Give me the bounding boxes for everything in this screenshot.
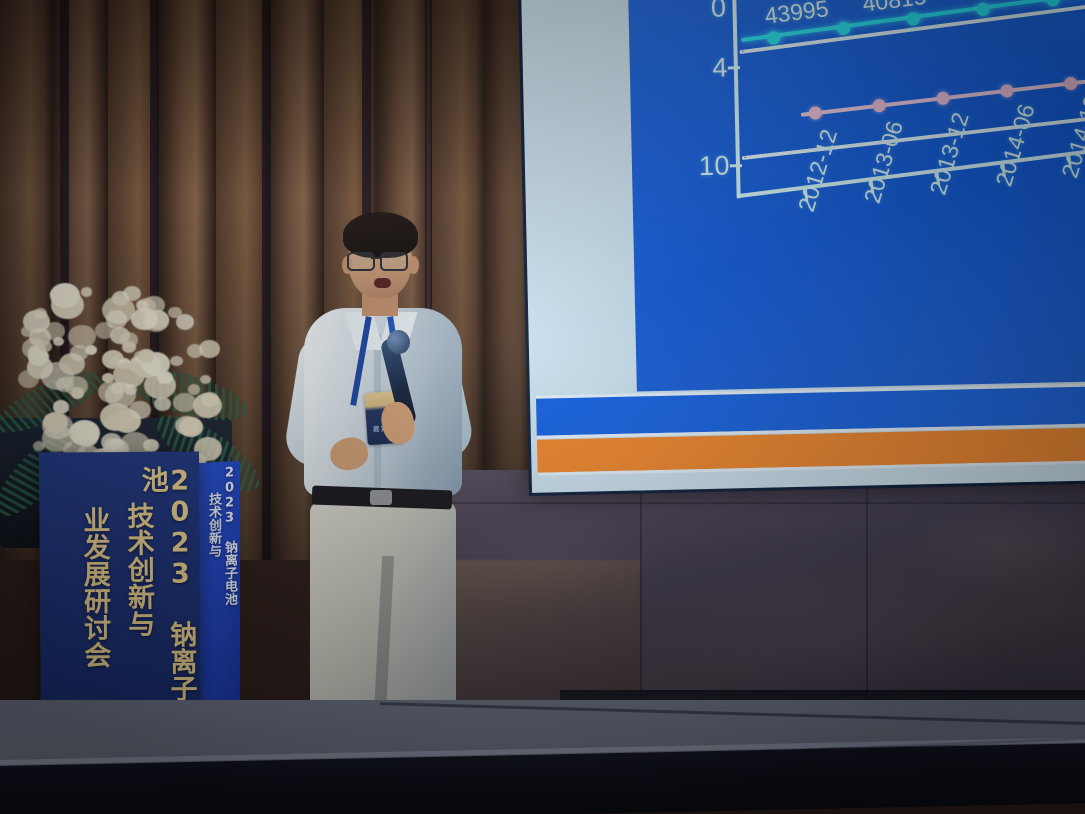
pink-data-point	[1000, 84, 1013, 97]
presenter-ear-right	[408, 256, 419, 274]
presenter: 嘉宾证	[286, 216, 486, 736]
y-tick-label: 10	[668, 150, 731, 182]
presentation-photo-scene: 0 4 10	[0, 0, 1085, 814]
flower-bloom	[53, 337, 64, 346]
podium-text-column-3: 业发展研讨会	[80, 506, 109, 668]
flower-bloom	[173, 393, 196, 413]
flower-bloom	[81, 287, 92, 297]
flower-bloom	[200, 375, 211, 384]
cyan-data-point	[976, 3, 989, 16]
flower-bloom	[43, 412, 67, 433]
flower-bloom	[201, 392, 219, 407]
flower-bloom	[176, 314, 194, 330]
cyan-data-point	[767, 31, 780, 44]
y-tick-mark	[730, 164, 742, 167]
slide: 0 4 10	[521, 0, 1085, 493]
flower-bloom	[124, 384, 137, 395]
chart-panel: 0 4 10	[624, 0, 1085, 392]
x-tick-label: 2012-12	[793, 126, 843, 215]
presenter-mouth	[374, 278, 391, 288]
flower-bloom	[154, 397, 170, 411]
flower-bloom	[33, 441, 45, 451]
flower-bloom	[70, 345, 88, 360]
podium-text-column-2: 技术创新与	[124, 502, 152, 637]
x-tick-label: 2013-12	[925, 109, 975, 198]
cyan-data-point	[907, 12, 920, 25]
flower-bloom	[131, 308, 157, 330]
pink-data-point	[1064, 77, 1077, 90]
glasses-bridge	[371, 257, 380, 259]
belt-buckle	[370, 490, 392, 505]
x-tick-label: 2013-06	[859, 118, 909, 207]
flower-bloom	[106, 310, 128, 328]
podium-side-text-2: 技术创新与	[207, 492, 220, 558]
flower-bloom	[18, 370, 39, 388]
data-label: 43995	[763, 0, 830, 30]
cyan-data-point	[1046, 0, 1059, 6]
x-tick-label: 2014-12	[1056, 92, 1085, 181]
flower-bloom	[50, 283, 80, 309]
line-chart: 0 4 10	[624, 0, 1085, 392]
flower-bloom	[138, 349, 155, 364]
flower-bloom	[64, 376, 88, 396]
pink-data-point	[809, 106, 822, 119]
flower-bloom	[157, 371, 173, 384]
flower-bloom	[170, 356, 182, 366]
cyan-data-point	[837, 22, 850, 35]
pink-data-point	[936, 92, 949, 105]
y-tick-label: 4	[682, 52, 729, 84]
podium-side-text-1: 2023 钠离子电池	[223, 465, 236, 606]
flower-bloom	[179, 417, 203, 437]
flower-bloom	[39, 341, 51, 352]
glasses-lens-left	[347, 252, 375, 271]
y-tick-mark	[728, 66, 740, 69]
projection-screen: 0 4 10	[518, 0, 1085, 496]
y-tick-label: 0	[680, 0, 727, 24]
glasses-lens-right	[380, 252, 408, 271]
flower-bloom	[187, 344, 203, 358]
flower-bloom	[120, 332, 138, 348]
flower-bloom	[100, 403, 133, 431]
pink-data-point	[873, 99, 886, 112]
x-tick-label: 2014-06	[990, 101, 1040, 190]
